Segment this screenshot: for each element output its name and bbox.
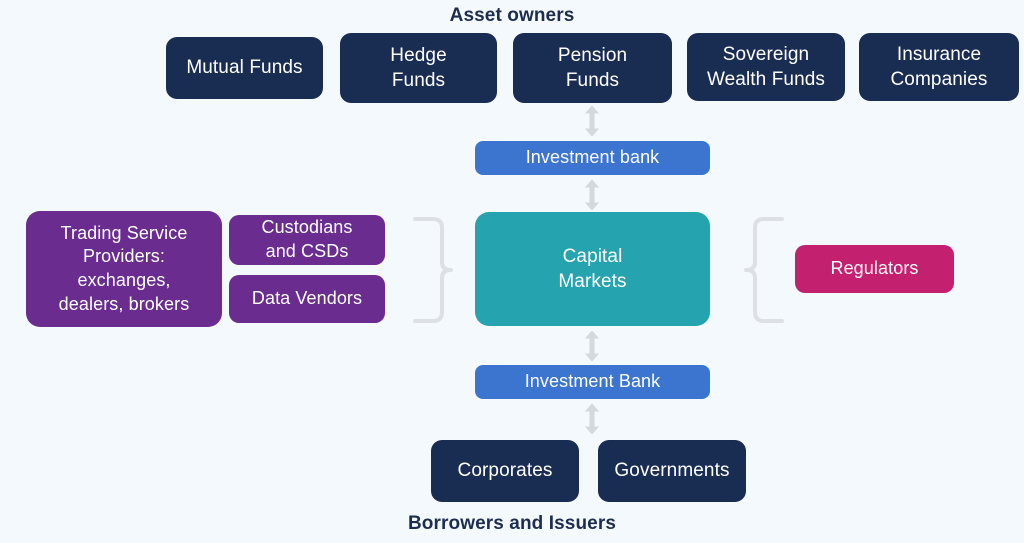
node-investment-bank-bottom[interactable]: Investment Bank [475, 365, 710, 399]
node-trading-service-providers[interactable]: Trading Service Providers: exchanges, de… [26, 211, 222, 327]
section-label-borrowers-and-issuers: Borrowers and Issuers [0, 513, 1024, 535]
node-insurance-companies[interactable]: Insurance Companies [859, 33, 1019, 101]
diagram-canvas: Asset owners Mutual Funds Hedge Funds Pe… [0, 0, 1024, 543]
node-hedge-funds[interactable]: Hedge Funds [340, 33, 497, 103]
node-investment-bank-top[interactable]: Investment bank [475, 141, 710, 175]
curly-brace-right-icon [736, 217, 786, 328]
node-corporates[interactable]: Corporates [431, 440, 579, 502]
node-mutual-funds[interactable]: Mutual Funds [166, 37, 323, 99]
double-arrow-icon-investment-bank-to-capital-markets [581, 180, 603, 215]
double-arrow-icon-capital-markets-to-investment-bank [581, 331, 603, 366]
node-pension-funds[interactable]: Pension Funds [513, 33, 672, 103]
double-arrow-icon-investment-bank-to-borrowers [581, 404, 603, 439]
node-capital-markets[interactable]: Capital Markets [475, 212, 710, 326]
curly-brace-left-icon [411, 217, 461, 328]
node-data-vendors[interactable]: Data Vendors [229, 275, 385, 323]
double-arrow-icon-owners-to-investment-bank [581, 106, 603, 141]
node-custodians-and-csds[interactable]: Custodians and CSDs [229, 215, 385, 265]
node-governments[interactable]: Governments [598, 440, 746, 502]
section-label-asset-owners: Asset owners [0, 5, 1024, 27]
node-sovereign-wealth-funds[interactable]: Sovereign Wealth Funds [687, 33, 845, 101]
node-regulators[interactable]: Regulators [795, 245, 954, 293]
